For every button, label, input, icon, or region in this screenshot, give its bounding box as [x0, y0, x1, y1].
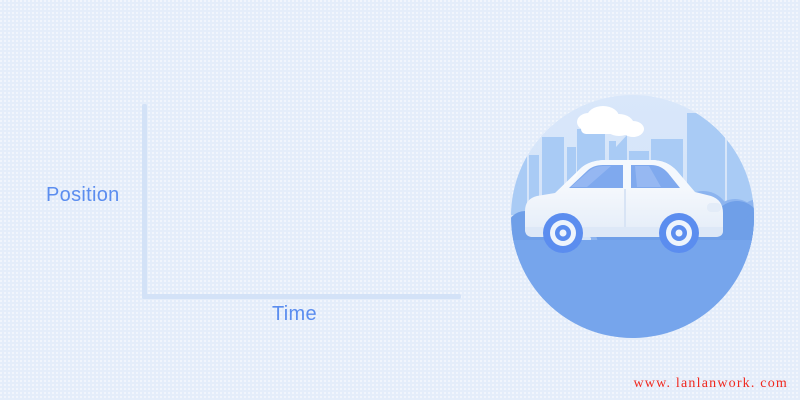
y-axis-line [142, 104, 147, 299]
position-time-chart: Position Time [0, 0, 500, 400]
illustration-canvas: Position Time [0, 0, 800, 400]
site-watermark: www. lanlanwork. com [633, 376, 788, 392]
car-illustration [511, 95, 754, 338]
x-axis-label: Time [272, 303, 317, 326]
y-axis-label: Position [46, 184, 120, 207]
x-axis-line [142, 294, 461, 299]
ground-shape [511, 240, 754, 338]
